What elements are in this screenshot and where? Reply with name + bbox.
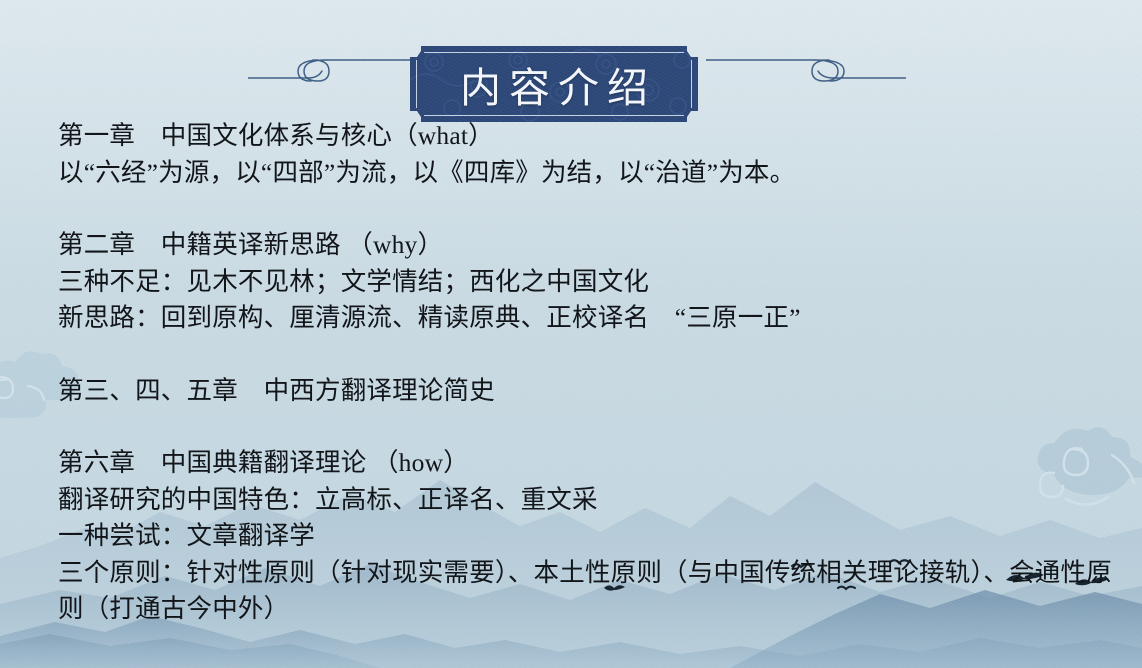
section-spacer [58,191,1128,227]
section-line: 新思路：回到原构、厘清源流、精读原典、正校译名 “三原一正” [58,300,1128,337]
section-heading: 第三、四、五章 中西方翻译理论简史 [58,373,1128,410]
section-heading: 第六章 中国典籍翻译理论 （how） [58,445,1128,482]
section-line: 三种不足：见木不见林；文学情结；西化之中国文化 [58,264,1128,301]
section-spacer [58,337,1128,373]
section-line: 以“六经”为源，以“四部”为流，以《四库》为结，以“治道”为本。 [58,155,1128,192]
section-line: 翻译研究的中国特色：立高标、正译名、重文采 [58,482,1128,519]
section-heading: 第一章 中国文化体系与核心（what） [58,118,1128,155]
section-line: 三个原则：针对性原则（针对现实需要）、本土性原则（与中国传统相关理论接轨）、会通… [58,555,1128,628]
page-title: 内容介绍 [410,46,698,122]
slide-body: 第一章 中国文化体系与核心（what） 以“六经”为源，以“四部”为流，以《四库… [58,118,1128,628]
cloud-scroll-ornament-right-icon [706,22,906,112]
section-line: 一种尝试：文章翻译学 [58,518,1128,555]
slide-header: 内容介绍 [0,22,1142,112]
title-banner: 内容介绍 [410,46,698,122]
presentation-slide: 内容介绍 第一章 中国文化体系与核心（what） 以“六经”为源，以“四部”为流… [0,0,1142,668]
cloud-scroll-ornament-left-icon [248,22,438,112]
section-heading: 第二章 中籍英译新思路 （why） [58,227,1128,264]
section-spacer [58,409,1128,445]
